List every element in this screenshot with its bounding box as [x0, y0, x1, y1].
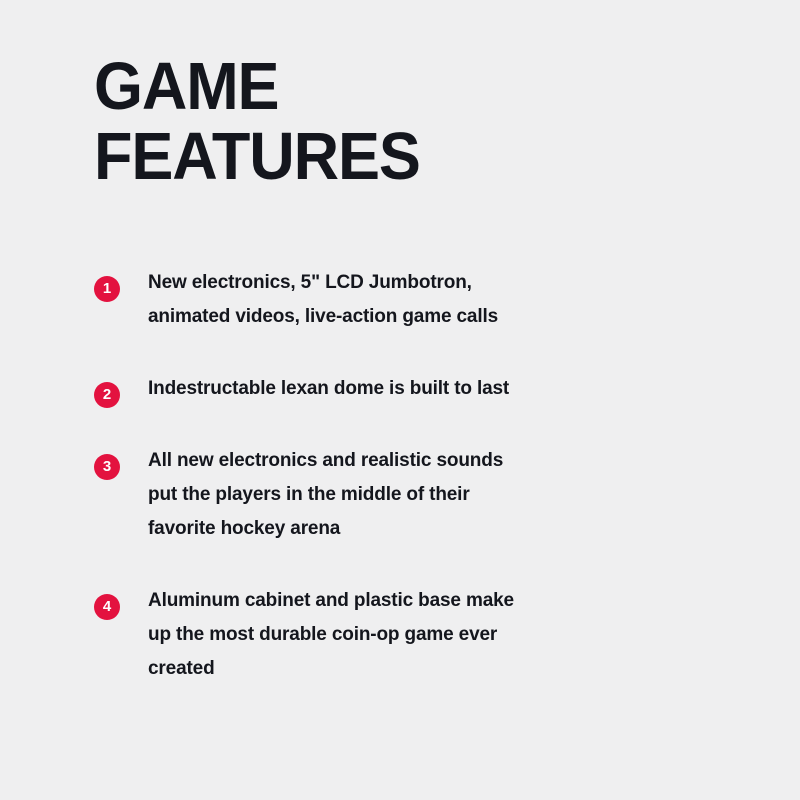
number-badge-3: 3 — [94, 454, 120, 480]
feature-text-line: animated videos, live-action game calls — [148, 300, 714, 334]
number-badge-4: 4 — [94, 594, 120, 620]
feature-text-line: All new electronics and realistic sounds — [148, 444, 714, 478]
number-badge-1: 1 — [94, 276, 120, 302]
list-item: 4 Aluminum cabinet and plastic base make… — [94, 584, 714, 686]
feature-list: 1 New electronics, 5" LCD Jumbotron, ani… — [94, 266, 714, 686]
feature-list-page: GAME FEATURES 1 New electronics, 5" LCD … — [0, 0, 800, 800]
feature-text-line: up the most durable coin-op game ever — [148, 618, 714, 652]
feature-text-3: All new electronics and realistic sounds… — [148, 444, 714, 546]
feature-text-line: put the players in the middle of their — [148, 478, 714, 512]
feature-text-line: Indestructable lexan dome is built to la… — [148, 372, 714, 406]
list-item: 3 All new electronics and realistic soun… — [94, 444, 714, 546]
page-title: GAME FEATURES — [94, 52, 714, 192]
feature-text-2: Indestructable lexan dome is built to la… — [148, 372, 714, 406]
list-item: 2 Indestructable lexan dome is built to … — [94, 372, 714, 406]
list-item: 1 New electronics, 5" LCD Jumbotron, ani… — [94, 266, 714, 334]
feature-text-1: New electronics, 5" LCD Jumbotron, anima… — [148, 266, 714, 334]
page-title-line-2: FEATURES — [94, 122, 677, 192]
page-title-line-1: GAME — [94, 52, 677, 122]
feature-text-line: created — [148, 652, 714, 686]
number-badge-2: 2 — [94, 382, 120, 408]
feature-text-line: Aluminum cabinet and plastic base make — [148, 584, 714, 618]
feature-text-line: favorite hockey arena — [148, 512, 714, 546]
feature-text-4: Aluminum cabinet and plastic base make u… — [148, 584, 714, 686]
feature-text-line: New electronics, 5" LCD Jumbotron, — [148, 266, 714, 300]
